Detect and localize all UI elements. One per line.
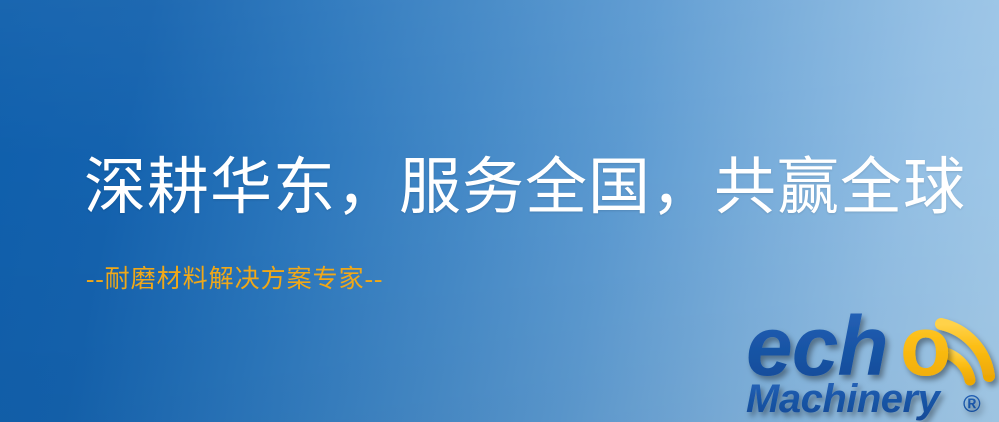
echo-machinery-logo[interactable]: ech o Machinery ® [742,296,999,422]
banner-subtitle: --耐磨材料解决方案专家-- [86,264,383,296]
registered-trademark-icon: ® [963,391,981,418]
promo-banner: 深耕华东，服务全国，共赢全球 --耐磨材料解决方案专家-- [0,0,999,422]
logo-tagline: Machinery [746,377,942,421]
banner-headline: 深耕华东，服务全国，共赢全球 [84,152,966,224]
